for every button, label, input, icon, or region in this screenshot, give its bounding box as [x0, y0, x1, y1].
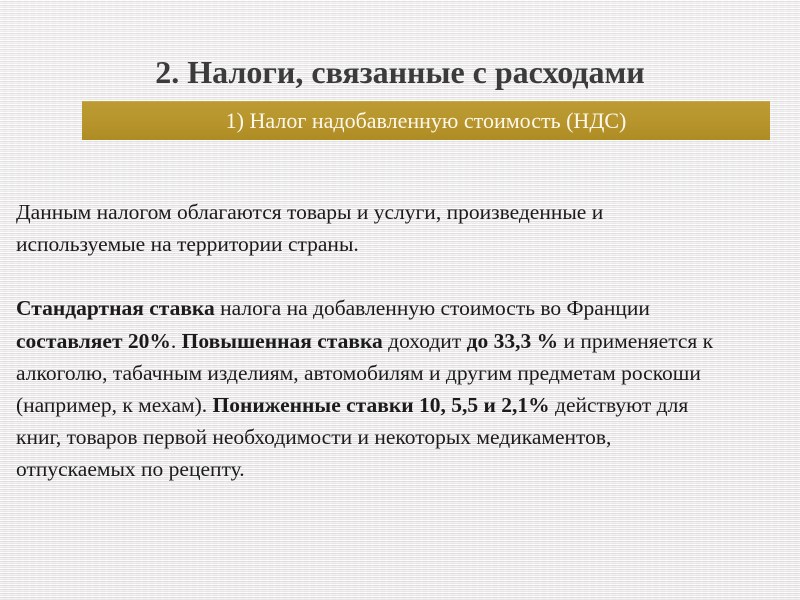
text-run: . — [171, 329, 182, 353]
slide-canvas: 2. Налоги, связанные с расходами 1) Нало… — [0, 0, 800, 600]
paragraph-rates: Стандартная ставка налога на добавленную… — [16, 292, 716, 485]
emphasis-run: составляет 20% — [16, 329, 171, 353]
text-run: налога на добавленную стоимость во Франц… — [215, 296, 650, 320]
paragraph-intro: Данным налогом облагаются товары и услуг… — [16, 196, 636, 260]
section-banner: 1) Налог надобавленную стоимость (НДС) — [82, 101, 770, 140]
emphasis-run: Пониженные ставки 10, 5,5 и 2,1% — [213, 393, 550, 417]
text-run: Данным налогом облагаются товары и услуг… — [16, 200, 603, 256]
page-title: 2. Налоги, связанные с расходами — [0, 54, 800, 91]
emphasis-run: Повышенная ставка — [182, 329, 383, 353]
section-banner-label: 1) Налог надобавленную стоимость (НДС) — [226, 110, 627, 132]
text-run: доходит — [383, 329, 467, 353]
emphasis-run: до 33,3 % — [467, 329, 559, 353]
body-content: Данным налогом облагаются товары и услуг… — [16, 196, 786, 486]
emphasis-run: Стандартная ставка — [16, 296, 215, 320]
